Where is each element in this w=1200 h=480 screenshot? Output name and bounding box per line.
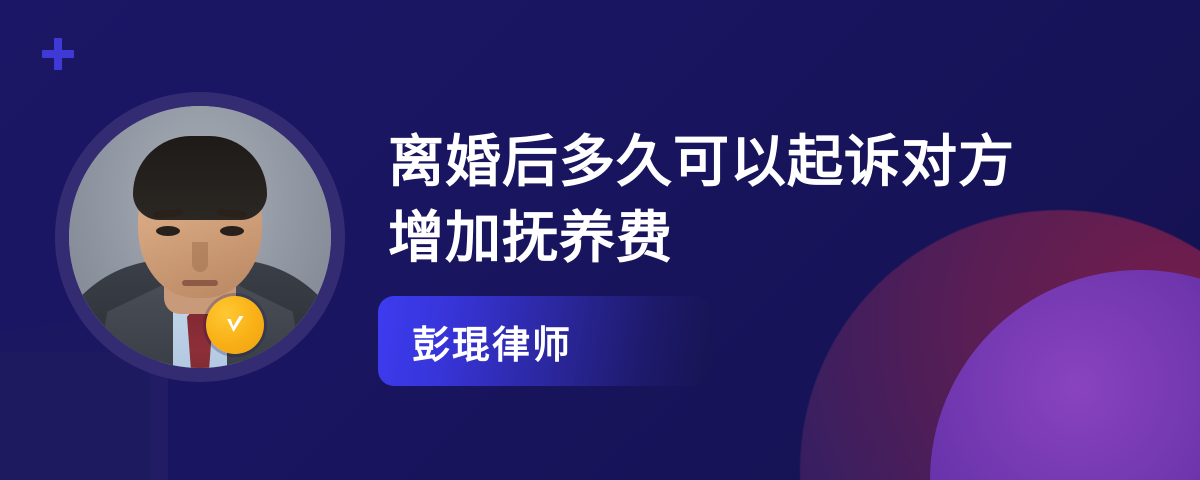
portrait-eye-left [156,226,180,236]
verified-check-icon [206,296,264,354]
article-cover-banner: 离婚后多久可以起诉对方 增加抚养费 彭琨律师 [0,0,1200,480]
author-name-badge[interactable]: 彭琨律师 [378,296,710,386]
avatar-photo [69,106,331,368]
author-name-label: 彭琨律师 [378,314,572,369]
portrait-mouth [182,280,218,286]
plus-icon [42,38,74,70]
portrait-nose [192,242,208,272]
portrait-eye-right [220,226,244,236]
page-title: 离婚后多久可以起诉对方 增加抚养费 [388,124,1088,276]
avatar [55,92,345,382]
